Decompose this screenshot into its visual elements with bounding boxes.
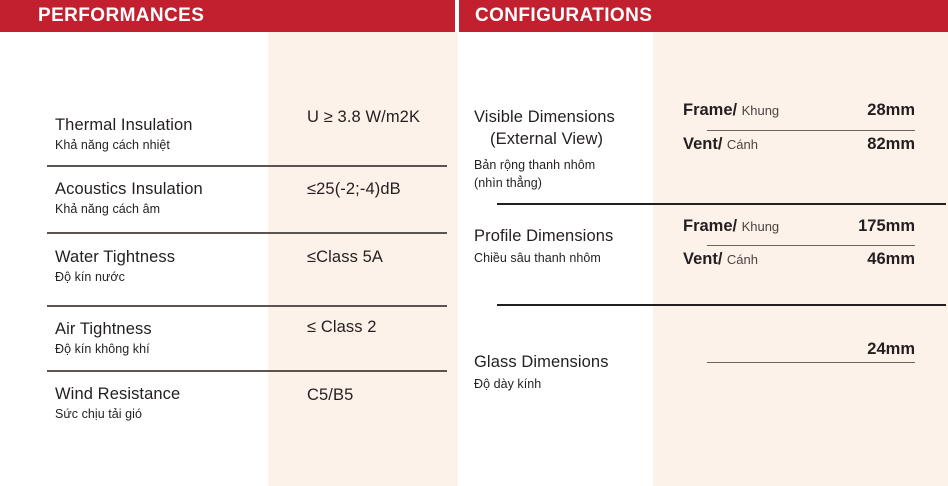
performance-row-name: Water Tightness — [55, 248, 175, 267]
configurations-header-bar: CONFIGURATIONS — [459, 0, 948, 32]
configuration-item-value: 28mm — [795, 101, 915, 120]
performance-row-name-vi: Sức chịu tải gió — [55, 407, 142, 421]
section-divider — [497, 304, 946, 306]
configuration-item-key-vi: Cánh — [727, 252, 758, 267]
configuration-item-key-en: Frame/ — [683, 217, 737, 235]
configuration-item-key: Frame/ Khung — [683, 101, 779, 120]
performance-row-name-vi: Độ kín nước — [55, 270, 125, 284]
section-divider — [497, 203, 946, 205]
row-divider — [47, 305, 447, 307]
configuration-item-key-vi: Khung — [742, 219, 780, 234]
configuration-item-value: 82mm — [795, 135, 915, 154]
configuration-item-key: Vent/ Cánh — [683, 135, 758, 154]
configuration-row-name-line1: Visible Dimensions — [474, 108, 615, 127]
performance-row-value: U ≥ 3.8 W/m2K — [307, 108, 420, 127]
configuration-item-key: Frame/ Khung — [683, 217, 779, 236]
row-divider — [47, 232, 447, 234]
configuration-item-key-vi: Cánh — [727, 137, 758, 152]
performance-row-name: Air Tightness — [55, 320, 152, 339]
configuration-item-key-en: Frame/ — [683, 101, 737, 119]
configuration-row-name-line1: Profile Dimensions — [474, 227, 613, 246]
performance-row-value: ≤ Class 2 — [307, 318, 377, 337]
configuration-item-value: 24mm — [795, 340, 915, 359]
spec-sheet: PERFORMANCES CONFIGURATIONS Thermal Insu… — [0, 0, 948, 486]
performance-row-name-vi: Khả năng cách âm — [55, 202, 160, 216]
configurations-header-title: CONFIGURATIONS — [475, 5, 652, 27]
configuration-row-name-vi-line2: (nhìn thẳng) — [474, 176, 542, 190]
performance-row-name: Thermal Insulation — [55, 116, 193, 135]
item-divider — [707, 245, 915, 246]
performance-row-value: ≤25(-2;-4)dB — [307, 180, 401, 199]
performances-header-bar: PERFORMANCES — [0, 0, 455, 32]
performance-row-name: Wind Resistance — [55, 385, 180, 404]
configuration-item-key-en: Vent/ — [683, 250, 722, 268]
item-divider — [707, 362, 915, 363]
configuration-item-key: Vent/ Cánh — [683, 250, 758, 269]
performance-row-name-vi: Khả năng cách nhiệt — [55, 138, 170, 152]
row-divider — [47, 370, 447, 372]
configuration-item-key-vi: Khung — [742, 103, 780, 118]
configuration-row-name-line1: Glass Dimensions — [474, 353, 609, 372]
performance-row-value: ≤Class 5A — [307, 248, 383, 267]
configuration-row-name-vi-line1: Độ dày kính — [474, 377, 541, 391]
configuration-item-value: 175mm — [795, 217, 915, 236]
row-divider — [47, 165, 447, 167]
configuration-item-value: 46mm — [795, 250, 915, 269]
configuration-row-name-vi-line1: Chiều sâu thanh nhôm — [474, 251, 601, 265]
performance-row-value: C5/B5 — [307, 386, 353, 405]
performance-row-name: Acoustics Insulation — [55, 180, 203, 199]
item-divider — [707, 130, 915, 131]
performance-row-name-vi: Độ kín không khí — [55, 342, 150, 356]
configuration-row-name-line2: (External View) — [490, 130, 603, 149]
configuration-row-name-vi-line1: Bản rộng thanh nhôm — [474, 158, 595, 172]
performances-header-title: PERFORMANCES — [38, 5, 204, 27]
configuration-item-key-en: Vent/ — [683, 135, 722, 153]
